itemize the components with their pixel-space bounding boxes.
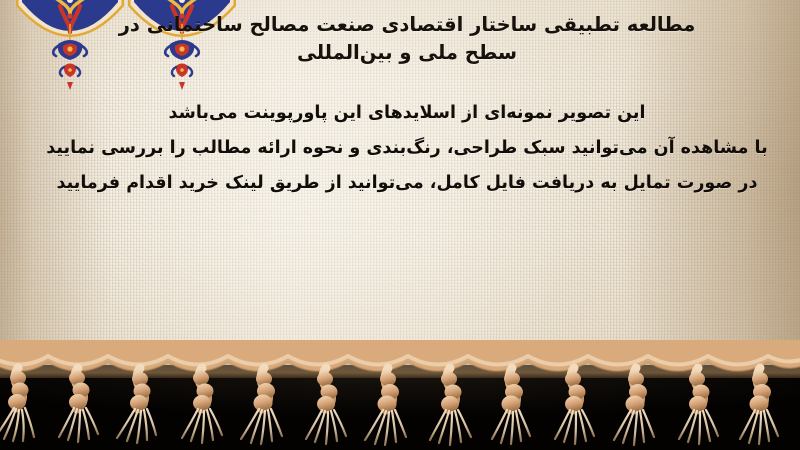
powerpoint-slide-preview: مطالعه تطبیقی ساختار اقتصادی صنعت مصالح … bbox=[0, 0, 800, 450]
slide-body-line-3: در صورت تمایل به دریافت فایل کامل، می‌تو… bbox=[38, 166, 776, 201]
slide-body-text: این تصویر نمونه‌ای از اسلایدهای این پاور… bbox=[16, 96, 784, 200]
slide-title-line-1: مطالعه تطبیقی ساختار اقتصادی صنعت مصالح … bbox=[40, 11, 774, 39]
slide-title-line-2: سطح ملی و بین‌المللی bbox=[40, 39, 774, 67]
slide-body-line-2: با مشاهده آن می‌توانید سبک طراحی، رنگ‌بن… bbox=[38, 131, 776, 166]
black-background-band bbox=[0, 365, 800, 450]
slide-body-line-1: این تصویر نمونه‌ای از اسلایدهای این پاور… bbox=[38, 96, 776, 131]
slide-text-area: مطالعه تطبیقی ساختار اقتصادی صنعت مصالح … bbox=[0, 0, 800, 378]
slide-title: مطالعه تطبیقی ساختار اقتصادی صنعت مصالح … bbox=[40, 6, 774, 66]
